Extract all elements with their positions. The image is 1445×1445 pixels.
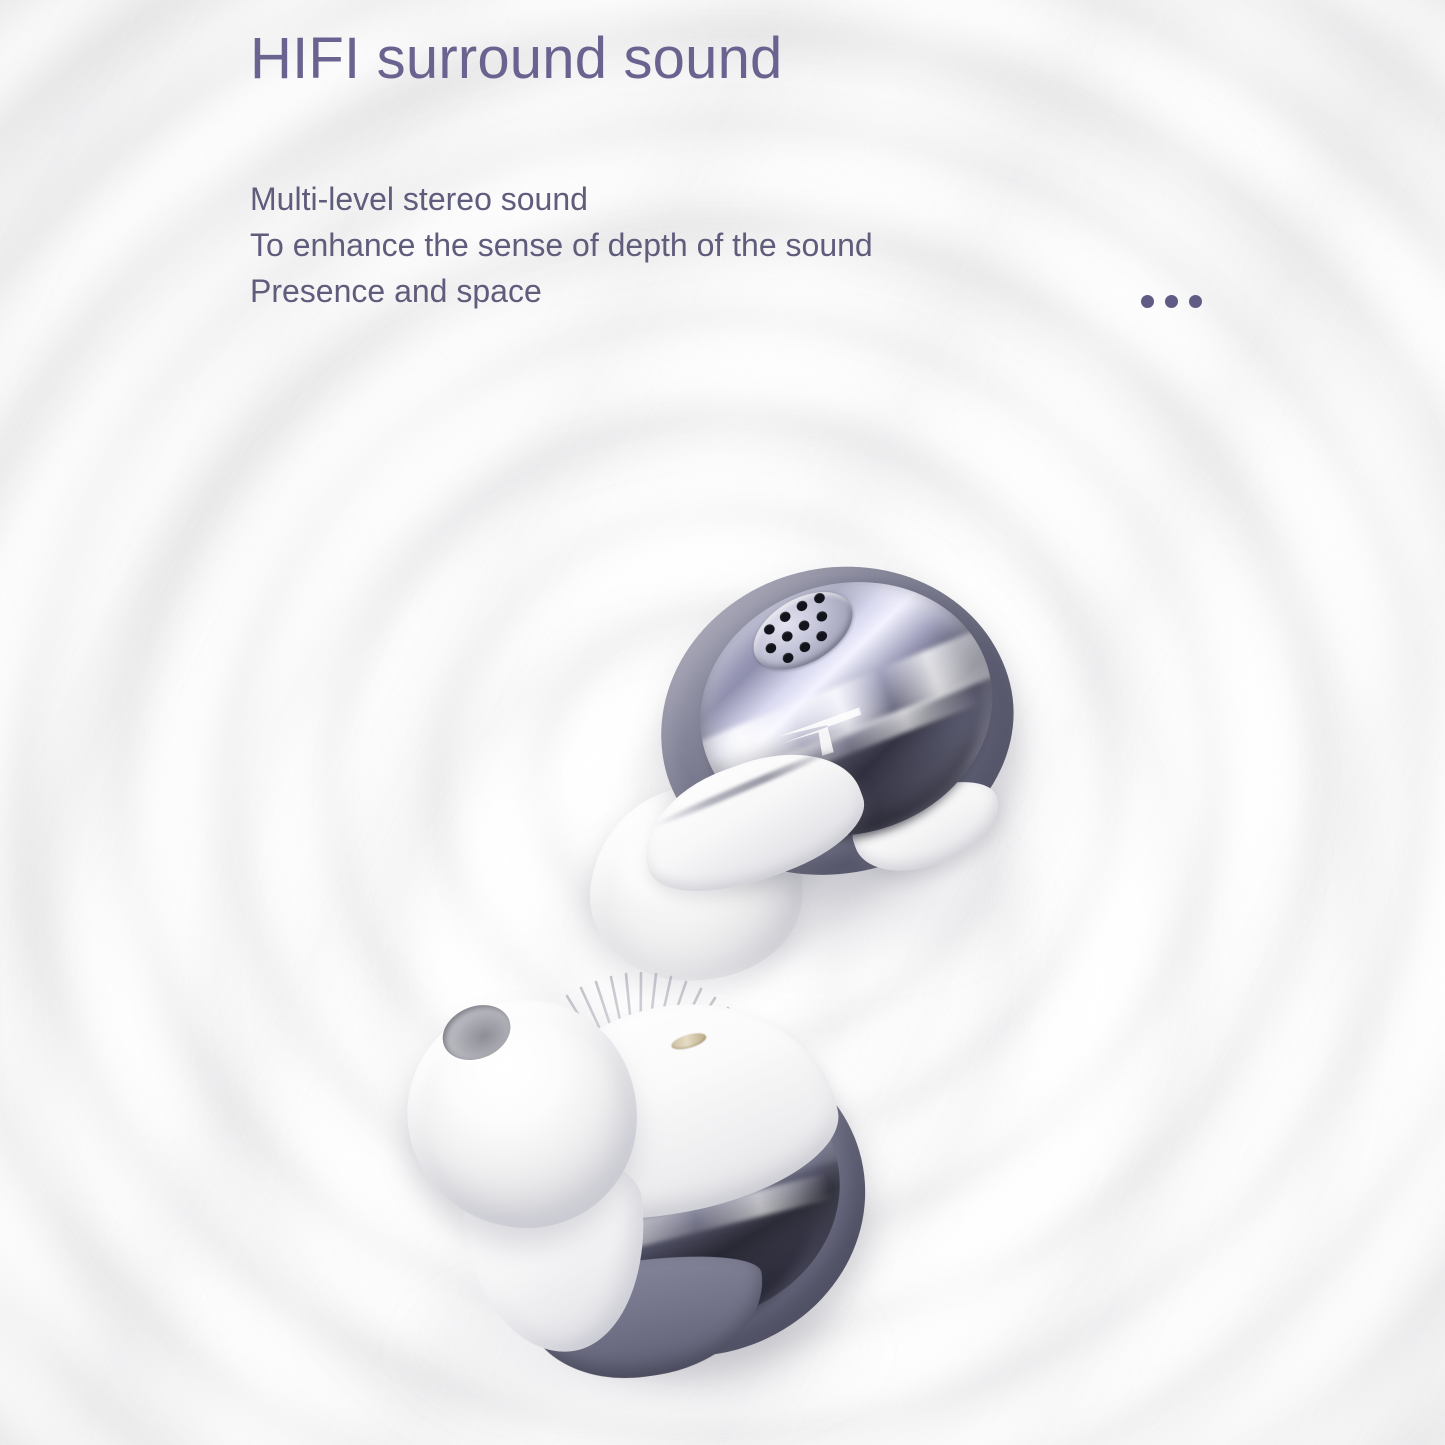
mesh-hole (797, 618, 812, 632)
lower-earbud (380, 967, 889, 1414)
mesh-hole (815, 609, 830, 623)
mesh-hole (812, 591, 827, 605)
product-feature-slide: HIFI surround sound Multi-level stereo s… (0, 0, 1445, 1445)
mesh-hole (778, 610, 793, 624)
mesh-hole (762, 622, 777, 636)
mesh-hole (780, 629, 795, 643)
product-image-earbuds (0, 0, 1445, 1445)
mesh-hole (795, 599, 810, 613)
mesh-hole (781, 651, 796, 665)
mesh-hole (814, 629, 829, 643)
mesh-hole (798, 640, 813, 654)
mesh-hole (764, 641, 779, 655)
